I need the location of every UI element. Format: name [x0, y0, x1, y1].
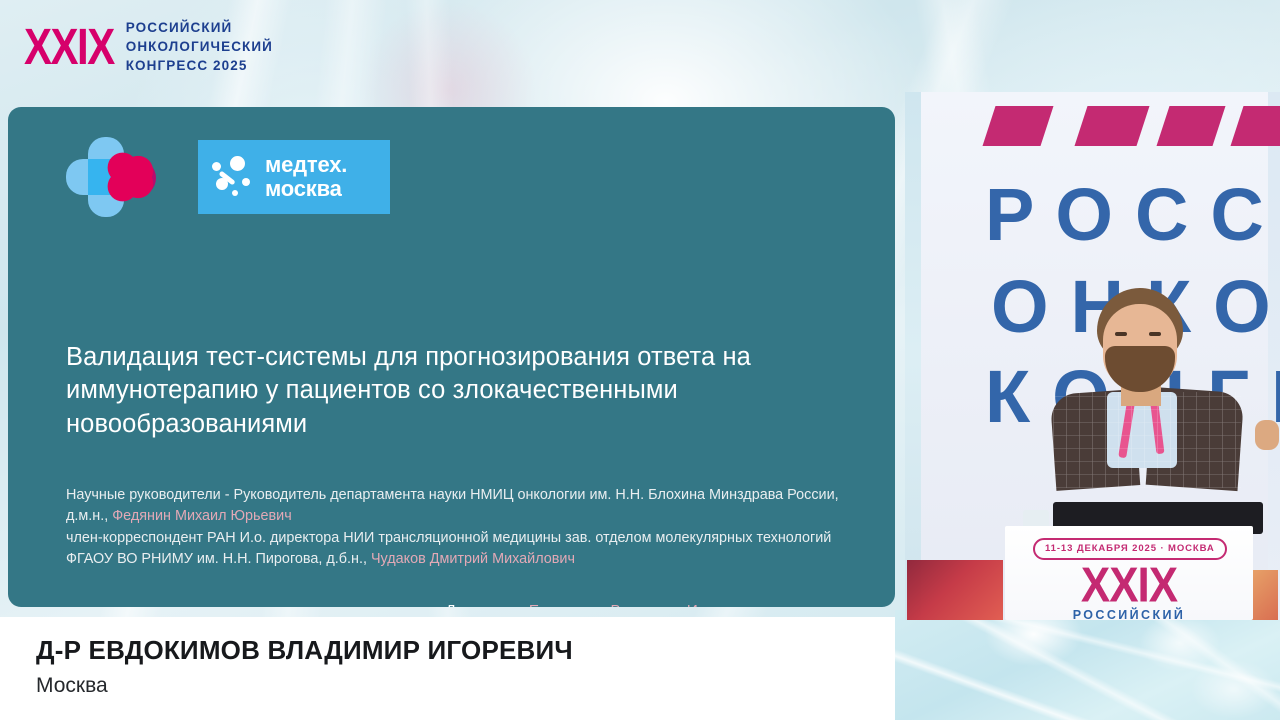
- medtech-logo-text: медтех. москва: [265, 153, 347, 200]
- slide-panel[interactable]: медтех. москва Валидация тест-системы дл…: [8, 107, 895, 607]
- podium-sign: 11-13 ДЕКАБРЯ 2025 · МОСКВА XXIX РОССИЙС…: [1005, 526, 1253, 620]
- speaker-figure: [1045, 288, 1265, 478]
- speaker-role-tail: , врач-онколог,: [753, 602, 856, 607]
- molecule-icon: [212, 154, 252, 200]
- speaker-line-1: Докладчик: Евдокимов Владимир Игоревич, …: [66, 599, 856, 607]
- backdrop-lower-strands: [895, 610, 1280, 720]
- supervisor-name-2: Чудаков Дмитрий Михайлович: [371, 551, 575, 567]
- speaker-video-panel[interactable]: РОССИЙС ОНКОЛОГ КОНГРЕС 11-13 ДЕКАБРЯ 20…: [905, 92, 1280, 620]
- slide-title: Валидация тест-системы для прогнозирован…: [66, 341, 856, 441]
- speaker-label: Докладчик:: [445, 602, 528, 607]
- speaker-name: Евдокимов Владимир Игоревич: [529, 602, 753, 607]
- congress-logo-lines: РОССИЙСКИЙ ОНКОЛОГИЧЕСКИЙ КОНГРЕСС 2025: [126, 18, 273, 75]
- medtech-moscow-logo: медтех. москва: [198, 140, 390, 214]
- presentation-player: XXIX РОССИЙСКИЙ ОНКОЛОГИЧЕСКИЙ КОНГРЕСС …: [0, 0, 1280, 720]
- slide-logo-row: медтех. москва: [66, 137, 390, 217]
- slide-speaker-block: Докладчик: Евдокимов Владимир Игоревич, …: [66, 599, 856, 607]
- video-wall-edge-left: [905, 92, 921, 620]
- caption-bar: Д-Р ЕВДОКИМОВ ВЛАДИМИР ИГОРЕВИЧ Москва: [0, 617, 895, 720]
- backdrop-word-rossiyskiy: РОССИЙС: [985, 178, 1280, 252]
- podium-subtitle: РОССИЙСКИЙ: [1005, 608, 1253, 620]
- congress-logo-line-1: РОССИЙСКИЙ: [126, 18, 273, 37]
- congress-logo-line-3: КОНГРЕСС 2025: [126, 56, 273, 75]
- speaker-caption-name: Д-Р ЕВДОКИМОВ ВЛАДИМИР ИГОРЕВИЧ: [36, 635, 573, 666]
- congress-logo-line-2: ОНКОЛОГИЧЕСКИЙ: [126, 37, 273, 56]
- supervisor-name-1: Федянин Михаил Юрьевич: [112, 508, 291, 524]
- slide-supervisors: Научные руководители - Руководитель депа…: [66, 485, 866, 570]
- medtech-cross-heart-icon: [66, 137, 170, 217]
- medtech-logo-line-1: медтех.: [265, 152, 347, 177]
- speaker-caption-city: Москва: [36, 674, 108, 698]
- congress-logo-roman: XXIX: [24, 21, 114, 72]
- congress-logo: XXIX РОССИЙСКИЙ ОНКОЛОГИЧЕСКИЙ КОНГРЕСС …: [24, 18, 273, 75]
- stage-light-left: [907, 560, 1003, 620]
- medtech-logo-line-2: москва: [265, 176, 342, 201]
- podium-roman-numeral: XXIX: [1005, 561, 1253, 610]
- podium-date-badge: 11-13 ДЕКАБРЯ 2025 · МОСКВА: [1033, 538, 1227, 560]
- backdrop-magenta-dashes: [983, 106, 1273, 148]
